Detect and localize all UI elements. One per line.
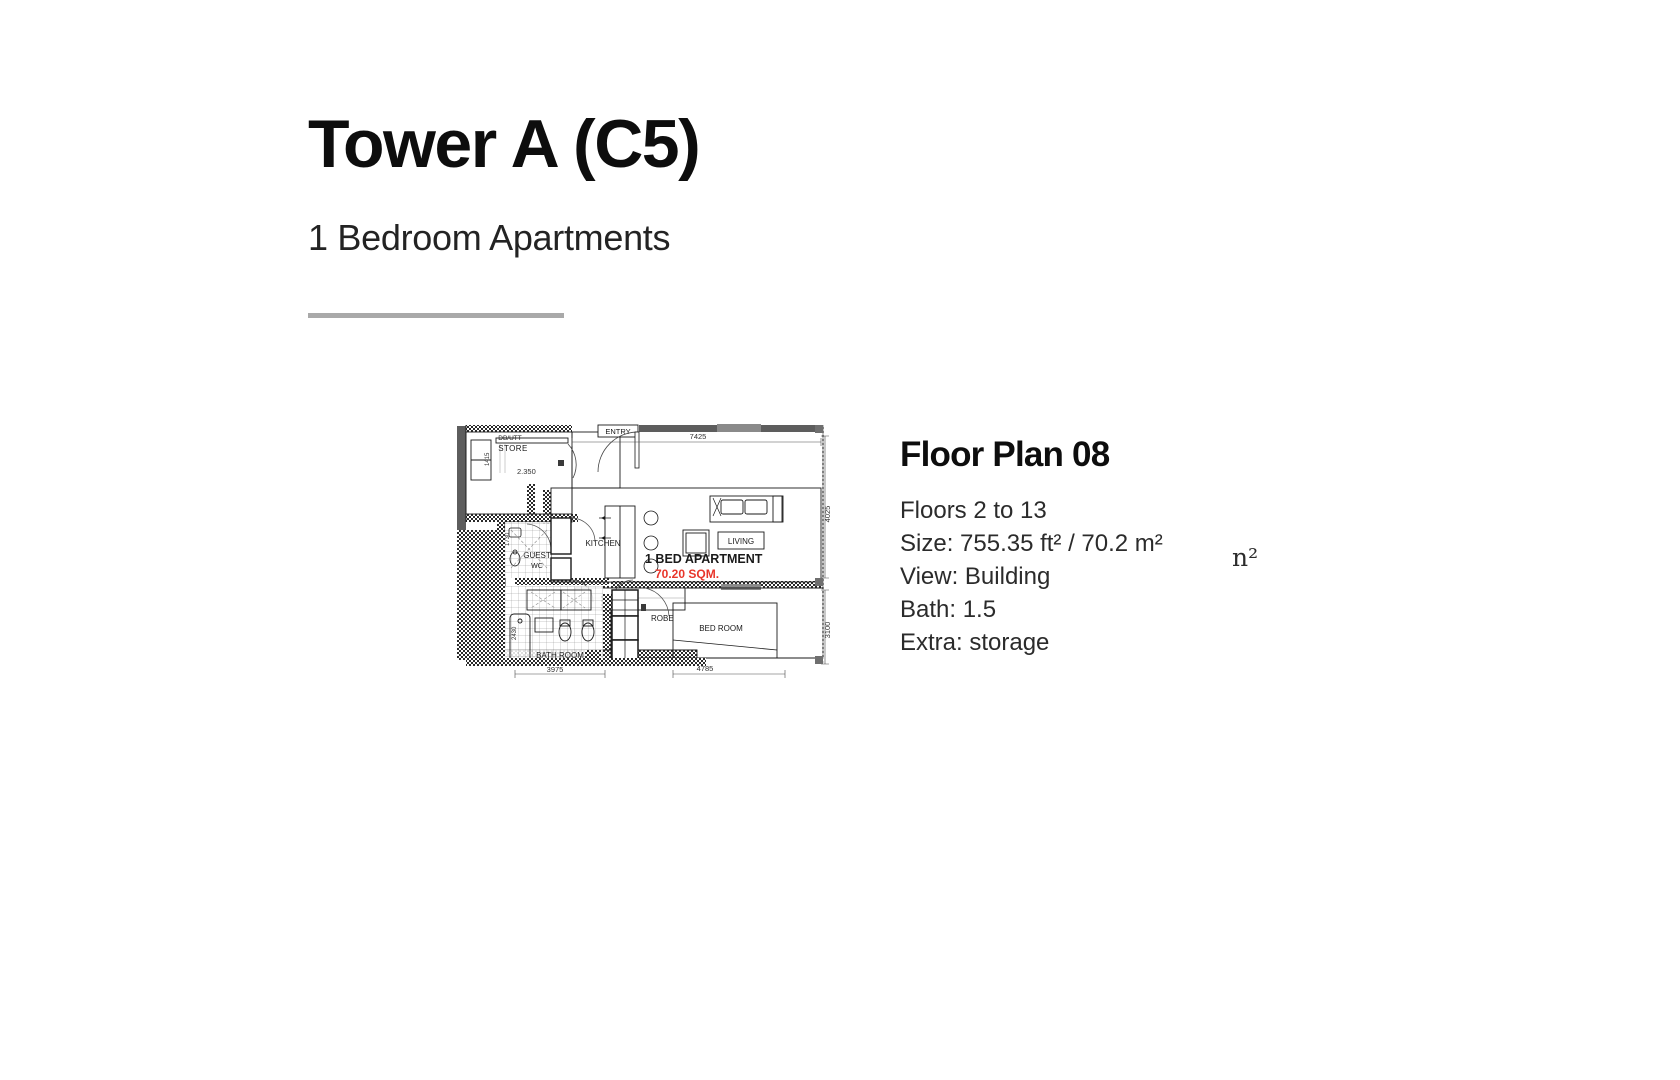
room-label-living: LIVING	[728, 537, 754, 546]
room-label-robe: ROBE	[651, 614, 674, 623]
stray-unit-glyph: n²	[1232, 543, 1258, 572]
info-panel-title: Floor Plan 08	[900, 437, 1320, 472]
info-line-extra: Extra: storage	[900, 626, 1320, 659]
room-label-entry: ENTRY	[605, 427, 630, 436]
header-divider	[308, 313, 564, 318]
unit-area-label: 70.20 SQM.	[655, 567, 719, 581]
page-title: Tower A (C5)	[308, 110, 1208, 178]
dim-store-width: 2.350	[517, 467, 536, 476]
dim-store-height: 1415	[485, 452, 491, 466]
room-label-bedroom: BED ROOM	[699, 624, 743, 633]
dim-living-depth: 4025	[823, 506, 832, 523]
page-header: Tower A (C5) 1 Bedroom Apartments	[308, 110, 1208, 256]
room-label-db-utt: DB/UTT	[498, 435, 522, 442]
dim-bath-depth: 2430	[512, 626, 518, 640]
unit-label: 1 BED APARTMENT	[645, 552, 763, 566]
living-label-box: LIVING	[718, 532, 764, 549]
dim-bedroom-depth: 3100	[823, 622, 832, 639]
wall-solid	[457, 426, 466, 514]
dim-bath-width: 3975	[547, 665, 564, 674]
dim-top-main: 7425	[690, 432, 707, 441]
room-label-store: STORE	[498, 444, 527, 453]
room-label-guest: GUEST	[523, 551, 551, 560]
floor-plan-drawing: DB/UTT STORE 1415 2.350 ENTRY 1730 GUEST…	[455, 418, 837, 688]
dim-guest-wc: 1730	[505, 532, 511, 546]
entry-label-box: ENTRY	[598, 425, 638, 437]
room-label-kitchen: KITCHEN	[585, 539, 620, 548]
room-label-wc: WC	[531, 563, 543, 570]
info-line-floors: Floors 2 to 13	[900, 494, 1320, 527]
page-subtitle: 1 Bedroom Apartments	[308, 178, 1208, 256]
info-line-bath: Bath: 1.5	[900, 593, 1320, 626]
